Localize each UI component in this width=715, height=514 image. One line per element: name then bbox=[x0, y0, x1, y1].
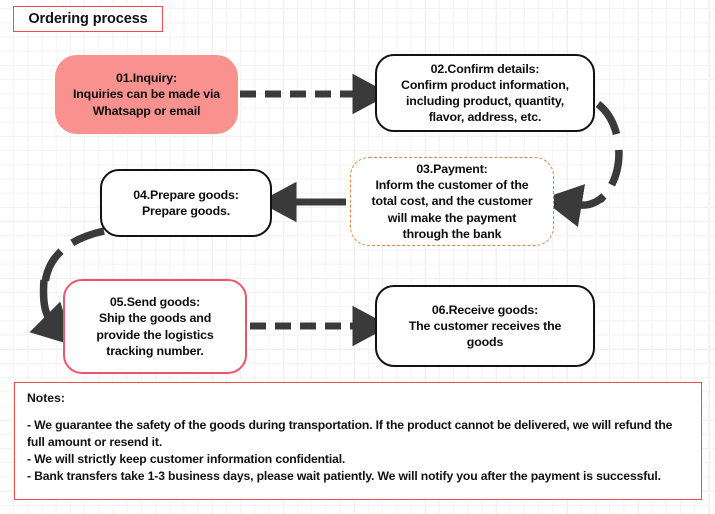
diagram-title-box: Ordering process bbox=[13, 6, 163, 32]
process-node-payment[interactable]: 03.Payment: Inform the customer of the t… bbox=[350, 157, 554, 246]
process-node-send-goods[interactable]: 05.Send goods: Ship the goods and provid… bbox=[63, 279, 247, 374]
process-node-confirm-details[interactable]: 02.Confirm details: Confirm product info… bbox=[375, 54, 595, 132]
diagram-canvas: Ordering process 01. bbox=[0, 0, 715, 514]
process-node-prepare-goods[interactable]: 04.Prepare goods: Prepare goods. bbox=[100, 169, 272, 237]
notes-body: - We guarantee the safety of the goods d… bbox=[27, 417, 689, 485]
process-node-inquiry[interactable]: 01.Inquiry: Inquiries can be made via Wh… bbox=[55, 55, 238, 134]
process-node-prepare-goods-label: 04.Prepare goods: Prepare goods. bbox=[133, 187, 239, 219]
process-node-confirm-details-label: 02.Confirm details: Confirm product info… bbox=[401, 61, 569, 126]
process-node-send-goods-label: 05.Send goods: Ship the goods and provid… bbox=[96, 294, 213, 359]
process-node-payment-label: 03.Payment: Inform the customer of the t… bbox=[371, 161, 532, 242]
process-node-receive-goods[interactable]: 06.Receive goods: The customer receives … bbox=[375, 285, 595, 367]
process-node-inquiry-label: 01.Inquiry: Inquiries can be made via Wh… bbox=[73, 70, 220, 119]
notes-panel: Notes: - We guarantee the safety of the … bbox=[14, 382, 702, 500]
page-title: Ordering process bbox=[28, 11, 147, 27]
process-node-receive-goods-label: 06.Receive goods: The customer receives … bbox=[409, 302, 562, 351]
notes-title: Notes: bbox=[27, 391, 689, 405]
